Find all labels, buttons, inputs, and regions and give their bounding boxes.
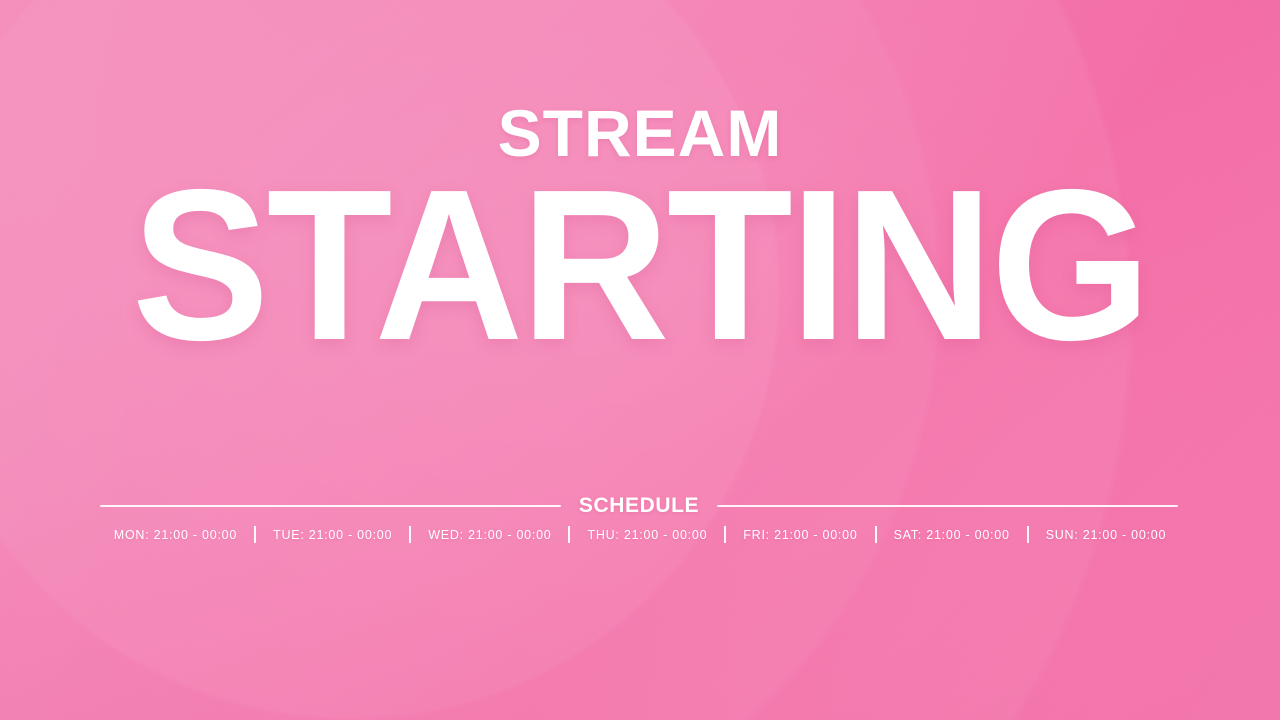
schedule-entry: WED: 21:00 - 00:00 <box>411 528 568 542</box>
schedule-header: SCHEDULE <box>100 494 1178 518</box>
schedule-entry: TUE: 21:00 - 00:00 <box>256 528 409 542</box>
headline-block: STREAM STARTING <box>0 102 1280 351</box>
schedule-entry: MON: 21:00 - 00:00 <box>97 528 254 542</box>
schedule-entry: SAT: 21:00 - 00:00 <box>877 528 1027 542</box>
schedule-entry: SUN: 21:00 - 00:00 <box>1029 528 1184 542</box>
stream-starting-soon-screen: STREAM STARTING SCHEDULE MON: 21:00 - 00… <box>0 0 1280 720</box>
schedule-list: MON: 21:00 - 00:00TUE: 21:00 - 00:00WED:… <box>0 526 1280 543</box>
schedule-entry: FRI: 21:00 - 00:00 <box>726 528 874 542</box>
schedule-title: SCHEDULE <box>579 494 699 518</box>
schedule-entry: THU: 21:00 - 00:00 <box>570 528 724 542</box>
schedule-rule-right <box>717 505 1178 507</box>
headline-line-starting: STARTING <box>26 179 1255 351</box>
schedule-rule-left <box>100 505 561 507</box>
